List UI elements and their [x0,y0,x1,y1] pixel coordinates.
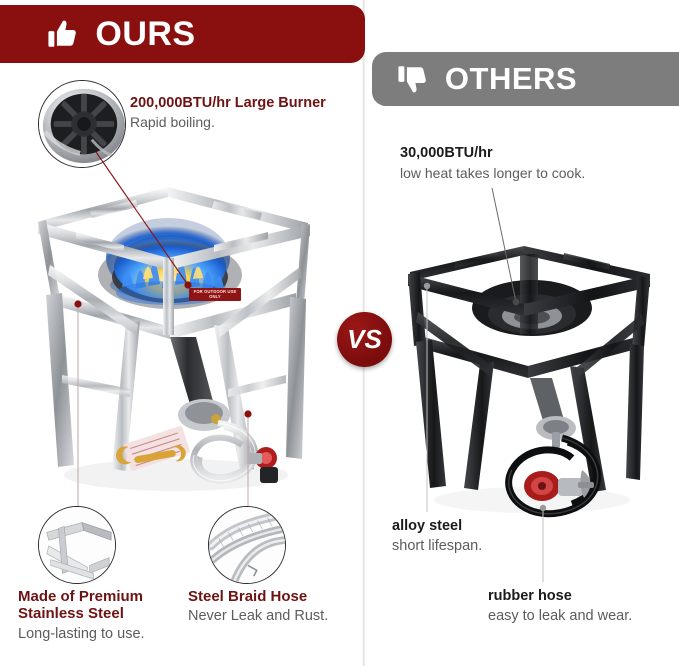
callout-rubber-hose: rubber hose easy to leak and wear. [488,588,678,625]
thumbs-down-icon [397,62,431,96]
callout-others-btu-title: 30,000BTU/hr [400,145,650,162]
ours-banner: OURS [0,5,365,63]
closeup-braided-hose [208,506,286,584]
callout-steel-braid-hose-title: Steel Braid Hose [188,588,363,605]
callout-alloy-steel-title: alloy steel [392,518,542,535]
callout-large-burner-sub: Rapid boiling. [130,114,360,132]
callout-stainless-steel: Made of Premium Stainless Steel Long-las… [18,588,178,643]
callout-large-burner: 200,000BTU/hr Large Burner Rapid boiling… [130,95,360,131]
callout-rubber-hose-sub: easy to leak and wear. [488,607,678,625]
callout-rubber-hose-title: rubber hose [488,588,678,605]
callout-stainless-steel-title: Made of Premium Stainless Steel [18,588,178,623]
callout-alloy-steel: alloy steel short lifespan. [392,518,542,555]
others-banner: OTHERS [372,52,679,106]
callout-stainless-steel-sub: Long-lasting to use. [18,625,178,643]
product-image-ours [18,175,348,505]
others-banner-label: OTHERS [445,61,577,97]
warning-label: FOR OUTDOOR USE ONLY [189,288,241,301]
callout-others-btu: 30,000BTU/hr low heat takes longer to co… [400,145,650,182]
closeup-stainless-frame [38,506,116,584]
vs-badge: VS [337,312,392,367]
comparison-infographic: OURS OTHERS [0,0,679,666]
callout-alloy-steel-sub: short lifespan. [392,537,542,555]
callout-steel-braid-hose-sub: Never Leak and Rust. [188,607,363,625]
callout-steel-braid-hose: Steel Braid Hose Never Leak and Rust. [188,588,363,625]
closeup-burner-head [38,80,126,168]
callout-others-btu-sub: low heat takes longer to cook. [400,165,650,183]
thumbs-up-icon [47,17,81,51]
callout-large-burner-title: 200,000BTU/hr Large Burner [130,95,360,112]
product-image-others [392,238,670,528]
ours-banner-label: OURS [95,15,195,54]
